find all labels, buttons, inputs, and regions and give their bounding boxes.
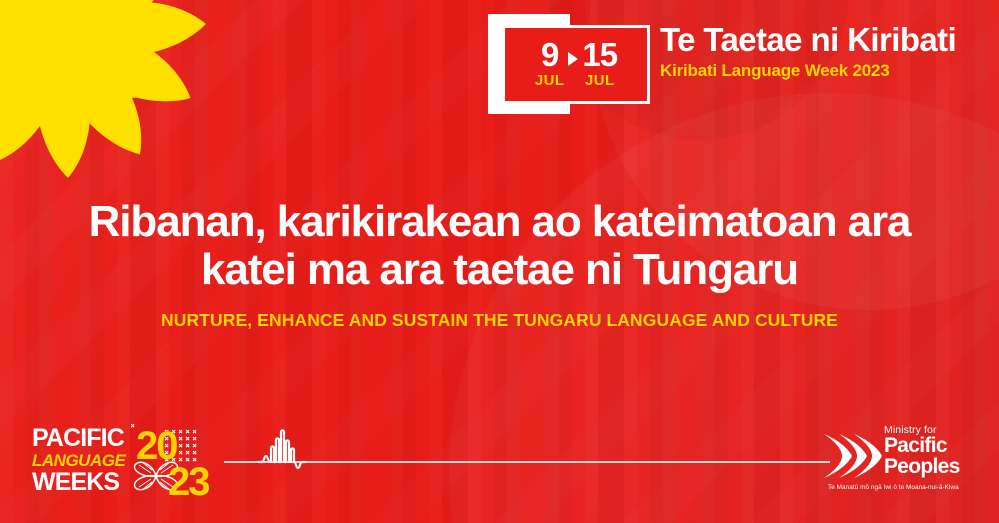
arrow-right-icon bbox=[568, 52, 578, 66]
plw-word-pacific: PACIFIC bbox=[32, 426, 137, 451]
date-badge-frame: 9 JUL 15 JUL bbox=[502, 25, 650, 104]
date-start: 9 JUL bbox=[535, 40, 565, 88]
ministry-wordmark: Ministry for Pacific Peoples bbox=[884, 424, 982, 477]
date-badge: 9 JUL 15 JUL bbox=[488, 14, 658, 114]
date-end: 15 JUL bbox=[582, 40, 617, 88]
ministry-name-line-2: Peoples bbox=[884, 457, 982, 478]
ministry-name-line-1: Pacific bbox=[884, 436, 982, 457]
tagline: NURTURE, ENHANCE AND SUSTAIN THE TUNGARU… bbox=[0, 310, 999, 331]
start-day: 9 bbox=[541, 40, 558, 70]
event-title: Te Taetae ni Kiribati bbox=[660, 22, 990, 58]
event-subtitle: Kiribati Language Week 2023 bbox=[660, 61, 990, 81]
ministry-for-pacific-peoples-logo: Ministry for Pacific Peoples Te Manatū m… bbox=[822, 424, 982, 498]
triple-wave-chevron-icon bbox=[822, 430, 884, 482]
plw-wordmark: PACIFIC LANGUAGE WEEKS bbox=[32, 426, 137, 495]
plw-word-weeks: WEEKS bbox=[32, 470, 137, 495]
ministry-maori-tagline: Te Manatū mō ngā Iwi ō te Moana-nui-ā-Ki… bbox=[828, 484, 982, 492]
start-month: JUL bbox=[535, 74, 565, 88]
header-titles: Te Taetae ni Kiribati Kiribati Language … bbox=[660, 22, 990, 81]
end-day: 15 bbox=[582, 40, 617, 70]
language-week-banner: 9 JUL 15 JUL Te Taetae ni Kiribati Kirib… bbox=[0, 0, 999, 523]
plw-year-bottom: 23 bbox=[168, 462, 209, 502]
headline-line-2: katei ma ara taetae ni Tungaru bbox=[60, 246, 939, 294]
headline-line-1: Ribanan, karikirakean ao kateimatoan ara bbox=[60, 198, 939, 246]
headline: Ribanan, karikirakean ao kateimatoan ara… bbox=[0, 198, 999, 294]
end-month: JUL bbox=[585, 74, 615, 88]
sound-waveform-icon bbox=[258, 426, 338, 498]
pacific-language-weeks-logo: PACIFIC LANGUAGE WEEKS 20 23 bbox=[32, 418, 232, 506]
